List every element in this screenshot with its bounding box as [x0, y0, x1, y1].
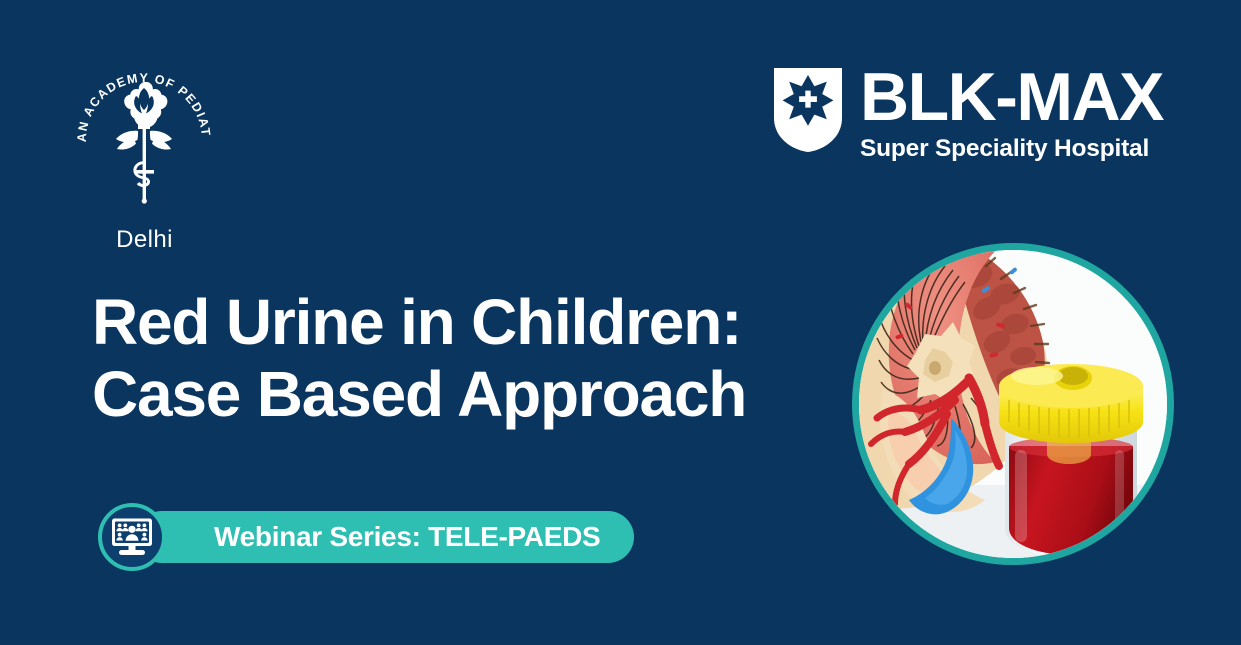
webinar-series-prefix: Webinar Series:: [214, 521, 428, 552]
page-title: Red Urine in Children: Case Based Approa…: [92, 287, 832, 430]
webinar-series-label: Webinar Series: TELE-PAEDS: [214, 521, 600, 553]
kidney-and-urine-sample-photo: [852, 243, 1174, 565]
iap-delhi-logo: INDIAN ACADEMY OF PEDIATRICS: [72, 48, 217, 213]
blk-max-tagline: Super Speciality Hospital: [860, 135, 1149, 163]
webinar-series-name: TELE-PAEDS: [428, 521, 600, 552]
iap-chapter-label: Delhi: [72, 226, 217, 254]
title-line-1: Red Urine in Children:: [92, 287, 832, 359]
blk-max-wordmark: BLK-MAX: [860, 66, 1163, 129]
blk-max-logo: BLK-MAX Super Speciality Hospital: [772, 66, 1163, 163]
blk-shield-icon: [772, 66, 844, 154]
webinar-poster: INDIAN ACADEMY OF PEDIATRICS: [0, 0, 1241, 645]
title-line-2: Case Based Approach: [92, 359, 832, 431]
video-conference-monitor-icon: [98, 503, 166, 571]
iap-emblem: [116, 82, 172, 204]
webinar-series-pill: Webinar Series: TELE-PAEDS: [136, 511, 634, 563]
urine-specimen-container: [999, 364, 1143, 558]
